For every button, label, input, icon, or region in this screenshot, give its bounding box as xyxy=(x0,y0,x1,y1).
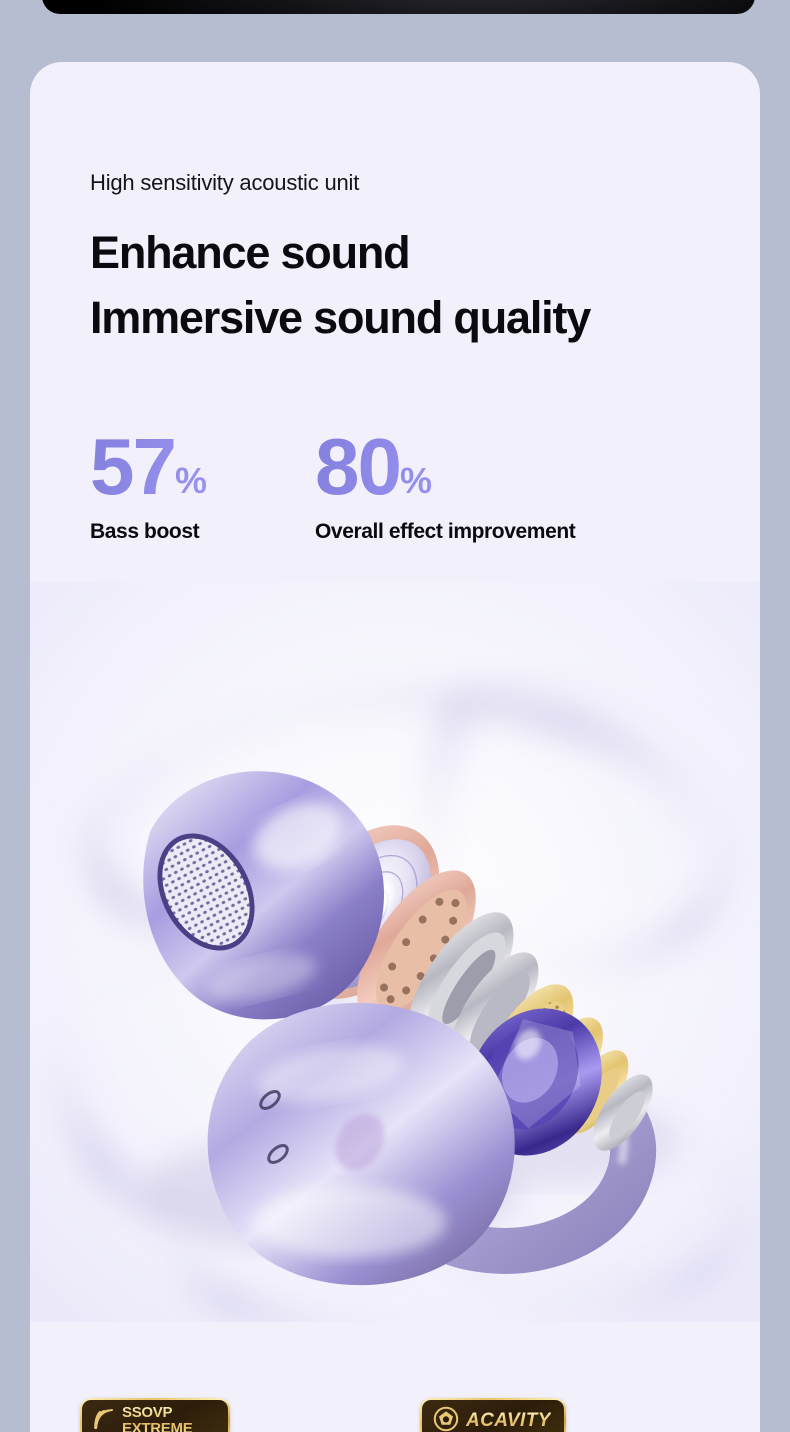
page-title: Enhance sound Immersive sound quality xyxy=(90,220,710,351)
sound-wave-icon xyxy=(93,1407,115,1432)
certification-badges: SSOVP EXTREME ACAVITY xyxy=(30,1398,760,1432)
stat-value: 57 % xyxy=(90,430,315,504)
feature-card: High sensitivity acoustic unit Enhance s… xyxy=(30,62,760,1432)
stat-number: 57 xyxy=(90,430,175,504)
earbud-body xyxy=(208,1003,515,1285)
stat-value: 80 % xyxy=(315,430,575,504)
stat-bass-boost: 57 % Bass boost xyxy=(90,430,315,544)
stat-label: Overall effect improvement xyxy=(315,520,575,544)
stats-row: 57 % Bass boost 80 % Overall effect impr… xyxy=(90,430,575,544)
stat-number: 80 xyxy=(315,430,400,504)
badge-ssovp[interactable]: SSOVP EXTREME xyxy=(80,1398,230,1432)
badge-acavity[interactable]: ACAVITY xyxy=(420,1398,566,1432)
product-hero-image xyxy=(30,582,760,1322)
stat-unit: % xyxy=(400,464,431,503)
previous-section-banner xyxy=(42,0,755,14)
stat-label: Bass boost xyxy=(90,520,315,544)
badge-line-1: SSOVP xyxy=(122,1404,172,1421)
badge-acavity-label: ACAVITY xyxy=(466,1411,551,1431)
card-copy: High sensitivity acoustic unit Enhance s… xyxy=(90,172,710,351)
badge-line-2: EXTREME xyxy=(122,1420,192,1432)
stat-unit: % xyxy=(175,464,206,503)
pentagon-logo-icon xyxy=(433,1406,459,1432)
badge-ssovp-label: SSOVP EXTREME xyxy=(122,1405,192,1432)
stat-overall-effect: 80 % Overall effect improvement xyxy=(315,430,575,544)
eyebrow-text: High sensitivity acoustic unit xyxy=(90,172,710,194)
